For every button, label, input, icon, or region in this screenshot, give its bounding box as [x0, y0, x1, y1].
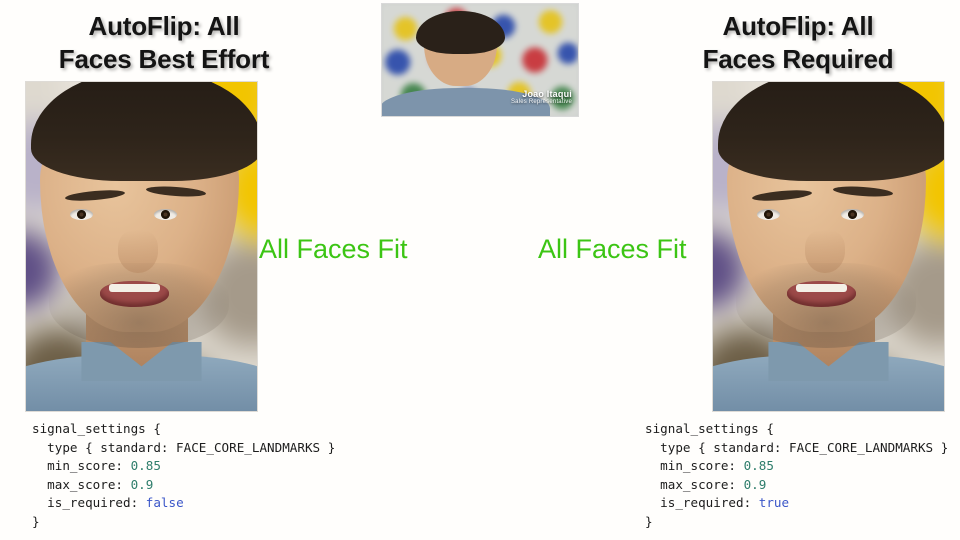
code-line-is-required-key: is_required: [32, 495, 146, 510]
portrait-hair [718, 81, 945, 181]
lower-third-caption: Joao Itaqui Sales Representative [511, 89, 572, 106]
slide-canvas: AutoFlip: All Faces Best Effort AutoFlip… [0, 0, 960, 540]
portrait-eye-right [154, 209, 177, 220]
portrait-nose [805, 230, 844, 273]
right-verdict-label: All Faces Fit [538, 234, 687, 265]
caption-role: Sales Representative [511, 99, 572, 106]
right-panel-title: AutoFlip: All Faces Required [648, 10, 948, 77]
left-verdict-label: All Faces Fit [259, 234, 408, 265]
portrait-teeth [109, 284, 160, 292]
left-panel-title: AutoFlip: All Faces Best Effort [14, 10, 314, 77]
code-line-max-score-value: 0.9 [131, 477, 154, 492]
code-line-type: type { standard: FACE_CORE_LANDMARKS } [645, 440, 948, 455]
portrait-nose [118, 230, 157, 273]
code-line-max-score-key: max_score: [32, 477, 131, 492]
code-line-min-score-key: min_score: [32, 458, 131, 473]
source-video-thumbnail: Joao Itaqui Sales Representative [381, 3, 579, 117]
code-line-is-required-value: true [759, 495, 789, 510]
code-line-is-required-key: is_required: [645, 495, 759, 510]
code-line-min-score-value: 0.85 [131, 458, 161, 473]
portrait-eye-left [70, 209, 93, 220]
code-line-open: signal_settings { [32, 421, 161, 436]
thumbnail-person-hair [416, 11, 505, 54]
portrait-eye-left [757, 209, 780, 220]
code-line-is-required-value: false [146, 495, 184, 510]
code-line-close: } [32, 514, 40, 529]
left-signal-settings-code: signal_settings { type { standard: FACE_… [32, 420, 335, 532]
caption-name: Joao Itaqui [511, 89, 572, 99]
portrait-eye-right [841, 209, 864, 220]
code-line-min-score-value: 0.85 [744, 458, 774, 473]
code-line-type: type { standard: FACE_CORE_LANDMARKS } [32, 440, 335, 455]
code-line-max-score-value: 0.9 [744, 477, 767, 492]
code-line-min-score-key: min_score: [645, 458, 744, 473]
thumbnail-person [409, 8, 523, 116]
code-line-open: signal_settings { [645, 421, 774, 436]
left-cropped-output-image [25, 81, 258, 412]
right-signal-settings-code: signal_settings { type { standard: FACE_… [645, 420, 948, 532]
code-line-close: } [645, 514, 653, 529]
portrait-teeth [796, 284, 847, 292]
portrait-hair [31, 81, 258, 181]
code-line-max-score-key: max_score: [645, 477, 744, 492]
right-cropped-output-image [712, 81, 945, 412]
